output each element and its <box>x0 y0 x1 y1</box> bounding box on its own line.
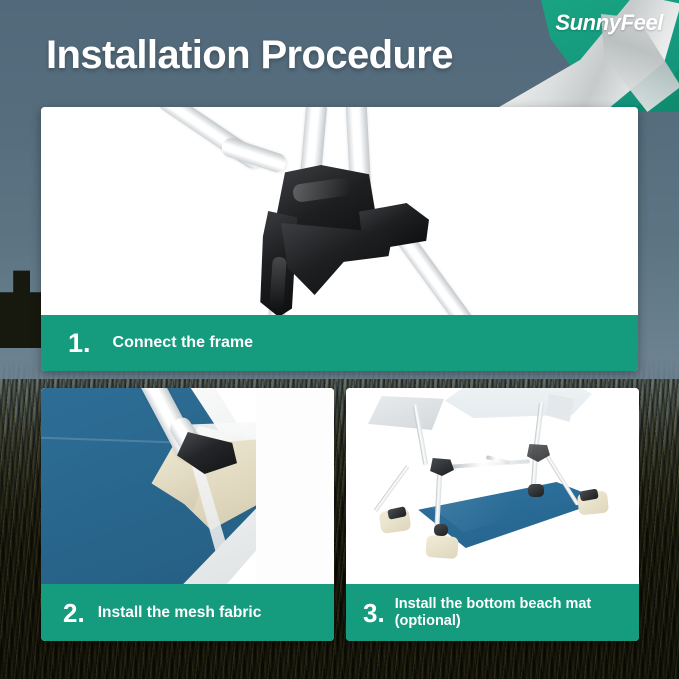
step-1-photo <box>41 107 638 315</box>
step-card-3: 3. Install the bottom beach mat (optiona… <box>346 388 639 641</box>
step-card-2: 2. Install the mesh fabric <box>41 388 334 641</box>
frame-joint-left <box>428 458 454 476</box>
step-3-photo <box>346 388 639 584</box>
step-2-label: Install the mesh fabric <box>98 604 262 622</box>
frame-crossbar <box>450 459 530 469</box>
frame-leg-left-diagonal <box>373 465 409 513</box>
step-3-label-line2: (optional) <box>395 613 592 630</box>
brand-logo: SunnyFeel <box>555 10 663 36</box>
installation-procedure-graphic: Installation Procedure SunnyFeel <box>0 0 679 679</box>
connector-hub-web <box>281 223 393 295</box>
step-2-caption: 2. Install the mesh fabric <box>41 584 334 641</box>
step-2-number: 2. <box>63 600 85 626</box>
step-1-label: Connect the frame <box>113 334 253 352</box>
frame-joint-right-lower <box>528 484 544 497</box>
step-3-number: 3. <box>363 600 385 626</box>
header: Installation Procedure SunnyFeel <box>0 0 679 108</box>
step-1-caption: 1. Connect the frame <box>41 315 638 371</box>
chair-tray-ghost <box>368 396 444 430</box>
step-3-label: Install the bottom beach mat (optional) <box>395 596 592 629</box>
chair-clip-ghost <box>546 394 574 422</box>
step-card-1: 1. Connect the frame <box>41 107 638 371</box>
photo-white-bg <box>256 388 334 584</box>
frame-foot-front <box>425 535 458 559</box>
page-title: Installation Procedure <box>46 33 453 78</box>
frame-joint-front <box>434 524 448 536</box>
step-1-number: 1. <box>68 330 91 357</box>
step-2-photo <box>41 388 334 584</box>
step-3-label-line1: Install the bottom beach mat <box>395 596 592 612</box>
step-3-caption: 3. Install the bottom beach mat (optiona… <box>346 584 639 641</box>
